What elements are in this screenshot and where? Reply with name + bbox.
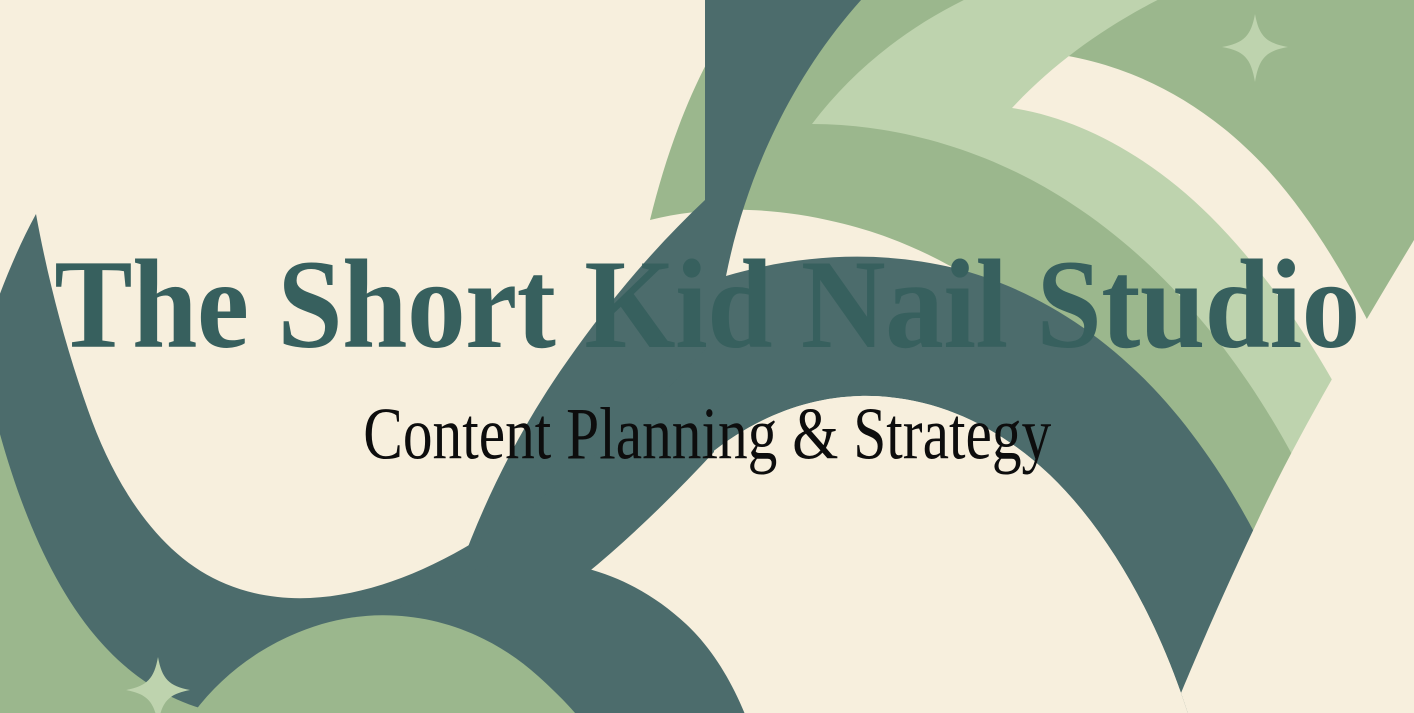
banner-canvas: The Short Kid Nail Studio Content Planni… [0,0,1414,713]
page-subtitle: Content Planning & Strategy [363,398,1051,472]
page-title: The Short Kid Nail Studio [54,241,1360,368]
